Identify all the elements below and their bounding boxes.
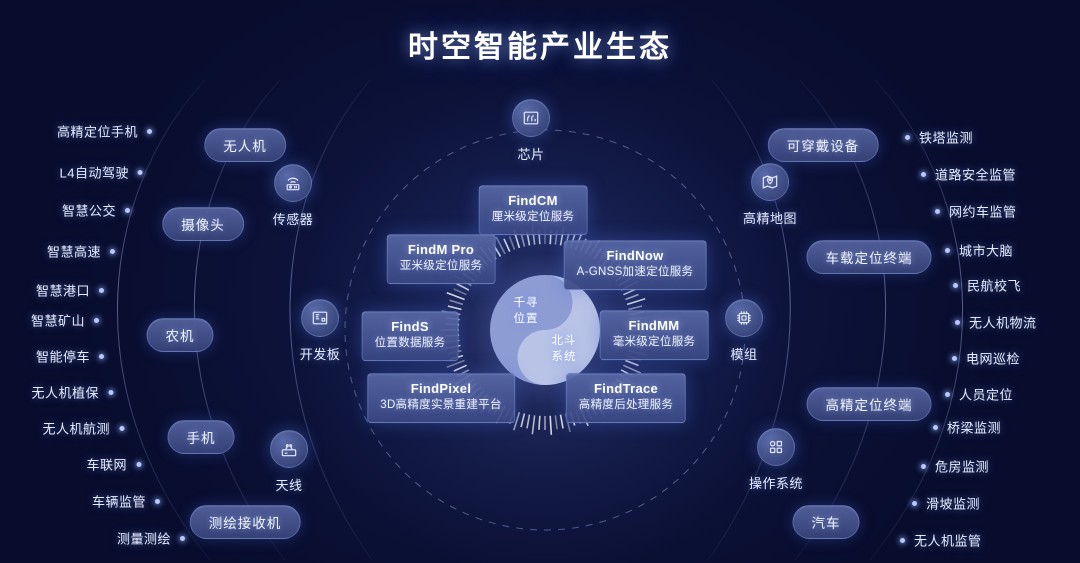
service-name: FindTrace xyxy=(579,381,673,397)
pill-高精定位终端[interactable]: 高精定位终端 xyxy=(807,387,932,421)
connector-dot-icon xyxy=(155,499,160,504)
scenario-label-l4自动驾驶[interactable]: L4自动驾驶 xyxy=(60,163,143,182)
connector-dot-icon xyxy=(905,135,910,140)
chip-icon xyxy=(512,99,550,137)
service-desc: 厘米级定位服务 xyxy=(492,210,575,226)
scenario-label-text: L4自动驾驶 xyxy=(60,166,129,181)
icon-node-label: 开发板 xyxy=(300,344,341,363)
connector-dot-icon xyxy=(119,426,124,431)
scenario-label-无人机物流[interactable]: 无人机物流 xyxy=(955,313,1037,332)
scenario-label-text: 城市大脑 xyxy=(959,244,1013,259)
scenario-label-智慧港口[interactable]: 智慧港口 xyxy=(36,281,104,300)
yinyang-glyph xyxy=(489,274,601,386)
service-box-findtrace[interactable]: FindTrace高精度后处理服务 xyxy=(566,373,686,423)
scenario-label-人员定位[interactable]: 人员定位 xyxy=(945,385,1013,404)
scenario-label-桥梁监测[interactable]: 桥梁监测 xyxy=(933,418,1001,437)
pill-无人机[interactable]: 无人机 xyxy=(204,128,286,162)
connector-dot-icon xyxy=(110,249,115,254)
connector-dot-icon xyxy=(921,172,926,177)
scenario-label-车辆监管[interactable]: 车辆监管 xyxy=(92,492,160,511)
connector-dot-icon xyxy=(921,464,926,469)
connector-dot-icon xyxy=(952,356,957,361)
icon-node-芯片[interactable]: 芯片 xyxy=(483,99,579,163)
connector-dot-icon xyxy=(180,536,185,541)
core-label-top: 千寻 位置 xyxy=(503,296,549,327)
scenario-label-电网巡检[interactable]: 电网巡检 xyxy=(952,349,1020,368)
scenario-label-铁塔监测[interactable]: 铁塔监测 xyxy=(905,128,973,147)
pill-测绘接收机[interactable]: 测绘接收机 xyxy=(190,505,301,539)
connector-dot-icon xyxy=(953,283,958,288)
service-desc: 位置数据服务 xyxy=(375,336,446,352)
icon-node-传感器[interactable]: 传感器 xyxy=(245,164,341,228)
connector-dot-icon xyxy=(125,208,130,213)
scenario-label-text: 车联网 xyxy=(86,458,127,473)
scenario-label-text: 铁塔监测 xyxy=(919,131,973,146)
sensor-icon xyxy=(274,164,312,202)
service-name: FindNow xyxy=(577,248,694,264)
scenario-label-滑坡监测[interactable]: 滑坡监测 xyxy=(912,494,980,513)
connector-dot-icon xyxy=(99,354,104,359)
icon-node-label: 操作系统 xyxy=(749,473,803,492)
core-label-bottom: 北斗 系统 xyxy=(541,334,587,365)
service-name: FindMM xyxy=(613,318,696,334)
scenario-label-text: 高精定位手机 xyxy=(57,125,138,140)
scenario-label-智慧公交[interactable]: 智慧公交 xyxy=(62,201,130,220)
icon-node-操作系统[interactable]: 操作系统 xyxy=(728,428,824,492)
scenario-label-危房监测[interactable]: 危房监测 xyxy=(921,457,989,476)
service-box-findcm[interactable]: FindCM厘米级定位服务 xyxy=(479,185,588,235)
service-box-findmm[interactable]: FindMM毫米级定位服务 xyxy=(600,310,709,360)
icon-node-label: 高精地图 xyxy=(743,208,797,227)
scenario-label-text: 智能停车 xyxy=(36,350,90,365)
connector-dot-icon xyxy=(945,392,950,397)
icon-node-天线[interactable]: 天线 xyxy=(241,430,337,494)
icon-node-label: 天线 xyxy=(275,475,302,494)
os-icon xyxy=(757,428,795,466)
scenario-label-text: 智慧高速 xyxy=(47,245,101,260)
service-box-finds[interactable]: FindS位置数据服务 xyxy=(362,311,459,361)
pill-车载定位终端[interactable]: 车载定位终端 xyxy=(807,240,932,274)
scenario-label-无人机航测[interactable]: 无人机航测 xyxy=(42,419,124,438)
icon-node-label: 模组 xyxy=(730,344,757,363)
connector-dot-icon xyxy=(900,538,905,543)
scenario-label-民航校飞[interactable]: 民航校飞 xyxy=(953,276,1021,295)
service-box-findnow[interactable]: FindNowA-GNSS加速定位服务 xyxy=(564,240,707,290)
core-yinyang: 千寻 位置 北斗 系统 xyxy=(489,274,601,386)
icon-node-高精地图[interactable]: 高精地图 xyxy=(722,163,818,227)
pill-农机[interactable]: 农机 xyxy=(147,318,214,352)
scenario-label-text: 桥梁监测 xyxy=(947,421,1001,436)
scenario-label-车联网[interactable]: 车联网 xyxy=(86,455,141,474)
scenario-label-text: 测量测绘 xyxy=(117,532,171,547)
pill-摄像头[interactable]: 摄像头 xyxy=(162,207,244,241)
scenario-label-text: 智慧港口 xyxy=(36,284,90,299)
antenna-icon xyxy=(270,430,308,468)
scenario-label-text: 危房监测 xyxy=(935,460,989,475)
service-desc: A-GNSS加速定位服务 xyxy=(577,265,694,281)
service-desc: 毫米级定位服务 xyxy=(613,335,696,351)
pill-可穿戴设备[interactable]: 可穿戴设备 xyxy=(768,128,879,162)
connector-dot-icon xyxy=(933,425,938,430)
scenario-label-text: 智慧矿山 xyxy=(31,314,85,329)
hdmap-icon xyxy=(751,163,789,201)
icon-node-模组[interactable]: 模组 xyxy=(696,299,792,363)
scenario-label-text: 无人机物流 xyxy=(969,316,1037,331)
scenario-label-智慧高速[interactable]: 智慧高速 xyxy=(47,242,115,261)
connector-dot-icon xyxy=(935,209,940,214)
scenario-label-text: 智慧公交 xyxy=(62,204,116,219)
scenario-label-无人机植保[interactable]: 无人机植保 xyxy=(31,383,113,402)
pill-手机[interactable]: 手机 xyxy=(168,420,235,454)
service-box-findpixel[interactable]: FindPixel3D高精度实景重建平台 xyxy=(367,373,515,423)
connector-dot-icon xyxy=(955,320,960,325)
connector-dot-icon xyxy=(94,318,99,323)
infographic-canvas: 时空智能产业生态 xyxy=(0,0,1080,563)
module-icon xyxy=(725,299,763,337)
service-box-findmpro[interactable]: FindM Pro亚米级定位服务 xyxy=(387,234,496,284)
service-name: FindPixel xyxy=(380,381,502,397)
scenario-label-无人机监管[interactable]: 无人机监管 xyxy=(900,531,982,550)
scenario-label-测量测绘[interactable]: 测量测绘 xyxy=(117,529,185,548)
scenario-label-智慧矿山[interactable]: 智慧矿山 xyxy=(31,311,99,330)
scenario-label-text: 网约车监管 xyxy=(949,205,1017,220)
scenario-label-text: 人员定位 xyxy=(959,388,1013,403)
service-desc: 亚米级定位服务 xyxy=(400,259,483,275)
service-name: FindS xyxy=(375,319,446,335)
scenario-label-text: 电网巡检 xyxy=(966,352,1020,367)
scenario-label-智能停车[interactable]: 智能停车 xyxy=(36,347,104,366)
icon-node-开发板[interactable]: 开发板 xyxy=(272,299,368,363)
connector-dot-icon xyxy=(99,288,104,293)
devboard-icon xyxy=(301,299,339,337)
connector-dot-icon xyxy=(912,501,917,506)
icon-node-label: 芯片 xyxy=(517,144,544,163)
scenario-label-text: 道路安全监管 xyxy=(935,168,1016,183)
scenario-label-text: 无人机监管 xyxy=(914,534,982,549)
connector-dot-icon xyxy=(147,129,152,134)
icon-node-label: 传感器 xyxy=(273,209,314,228)
connector-dot-icon xyxy=(108,390,113,395)
connector-dot-icon xyxy=(136,462,141,467)
service-name: FindCM xyxy=(492,193,575,209)
scenario-label-城市大脑[interactable]: 城市大脑 xyxy=(945,241,1013,260)
scenario-label-道路安全监管[interactable]: 道路安全监管 xyxy=(921,165,1016,184)
service-desc: 3D高精度实景重建平台 xyxy=(380,398,502,414)
service-name: FindM Pro xyxy=(400,242,483,258)
scenario-label-text: 无人机植保 xyxy=(31,386,99,401)
connector-dot-icon xyxy=(945,248,950,253)
connector-dot-icon xyxy=(138,170,143,175)
scenario-label-text: 无人机航测 xyxy=(42,422,110,437)
service-desc: 高精度后处理服务 xyxy=(579,398,673,414)
scenario-label-高精定位手机[interactable]: 高精定位手机 xyxy=(57,122,152,141)
scenario-label-网约车监管[interactable]: 网约车监管 xyxy=(935,202,1017,221)
scenario-label-text: 民航校飞 xyxy=(967,279,1021,294)
pill-汽车[interactable]: 汽车 xyxy=(793,505,860,539)
scenario-label-text: 滑坡监测 xyxy=(926,497,980,512)
scenario-label-text: 车辆监管 xyxy=(92,495,146,510)
